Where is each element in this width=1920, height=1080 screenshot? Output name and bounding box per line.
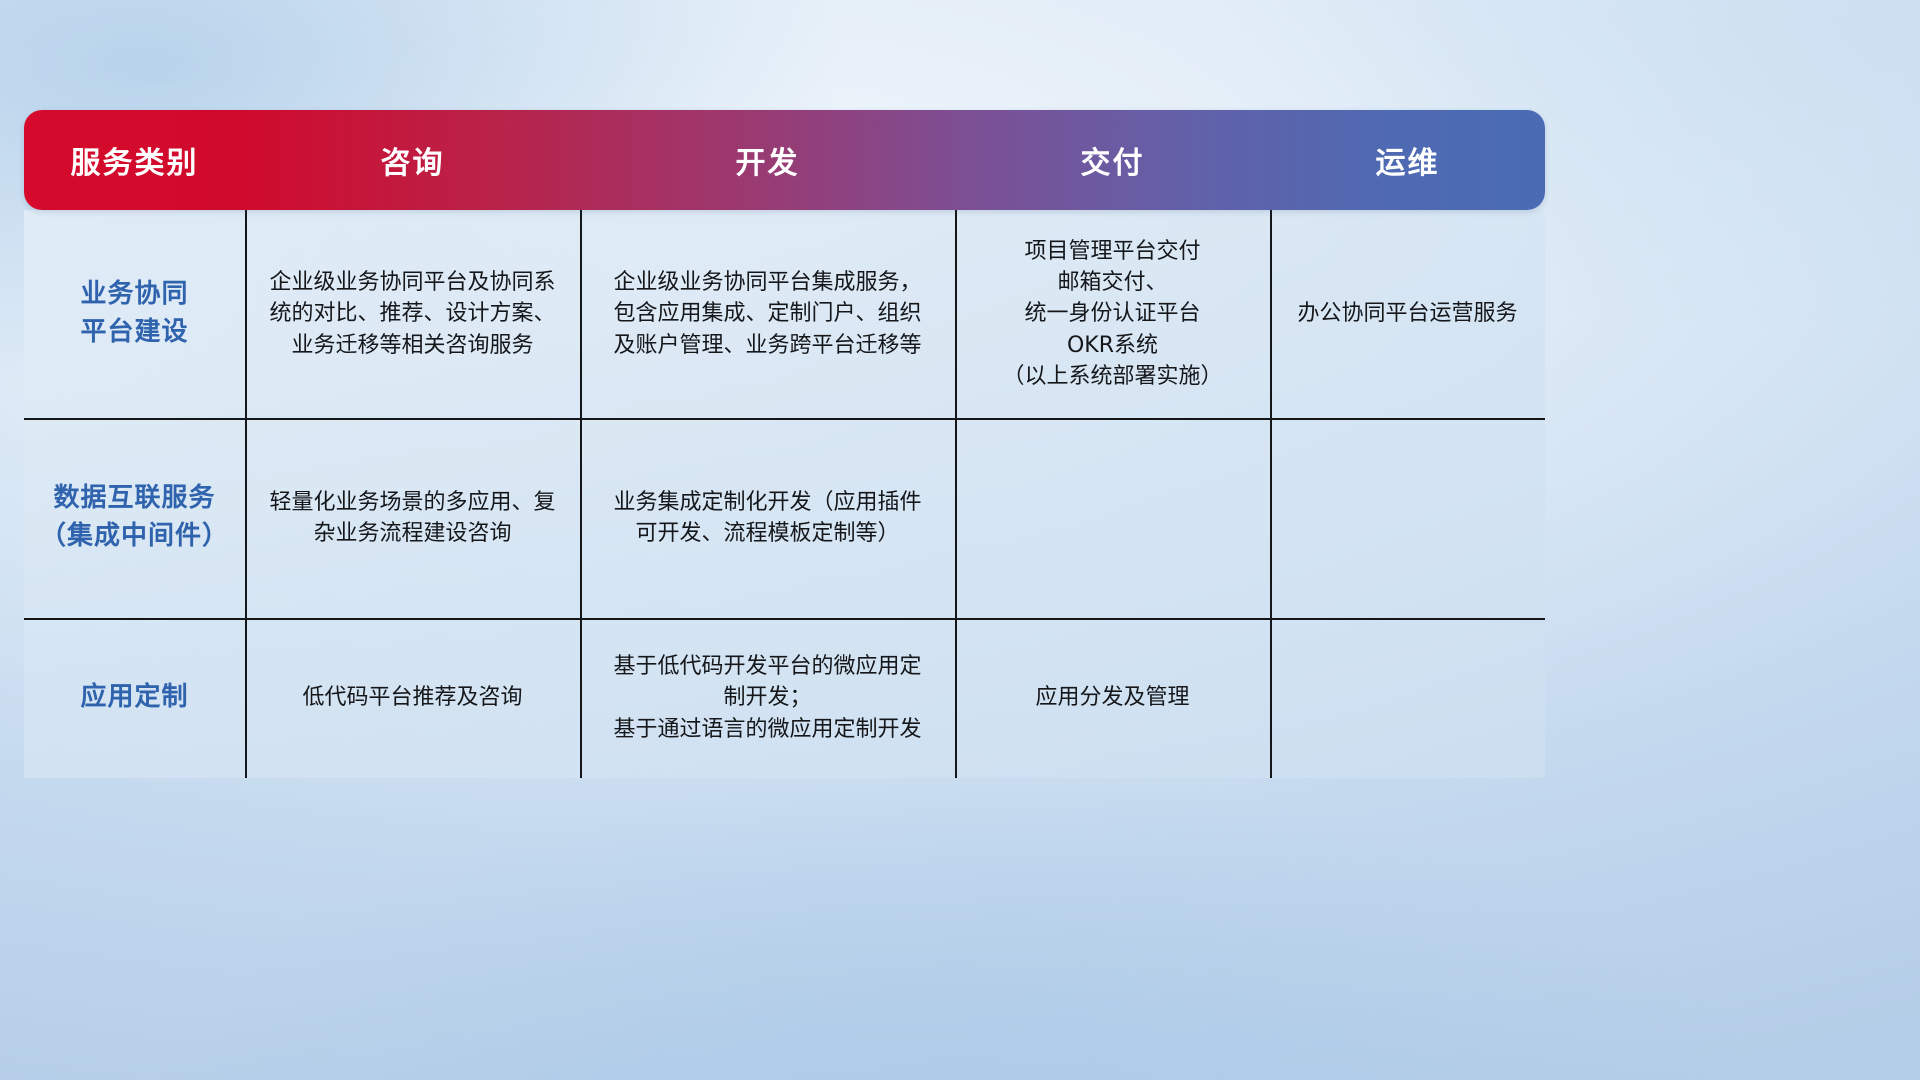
cell-consulting: 低代码平台推荐及咨询 <box>245 618 580 778</box>
cell-delivery: 应用分发及管理 <box>955 618 1270 778</box>
row-label-cell: 应用定制 <box>24 618 245 778</box>
cell-development: 基于低代码开发平台的微应用定 制开发； 基于通过语言的微应用定制开发 <box>580 618 955 778</box>
services-matrix-table: 服务类别 咨询 开发 交付 运维 业务协同 平台建设 企业级业务协同平台及协同系… <box>24 110 1545 778</box>
cell-delivery: 项目管理平台交付 邮箱交付、 统一身份认证平台 OKR系统 （以上系统部署实施） <box>955 210 1270 418</box>
column-header-consulting: 咨询 <box>245 138 580 182</box>
table-body: 业务协同 平台建设 企业级业务协同平台及协同系 统的对比、推荐、设计方案、 业务… <box>24 210 1545 778</box>
table-header-row: 服务类别 咨询 开发 交付 运维 <box>24 110 1545 210</box>
table-row: 应用定制 低代码平台推荐及咨询 基于低代码开发平台的微应用定 制开发； 基于通过… <box>24 618 1545 778</box>
cell-development: 企业级业务协同平台集成服务， 包含应用集成、定制门户、组织 及账户管理、业务跨平… <box>580 210 955 418</box>
row-label: 应用定制 <box>80 679 188 717</box>
row-label: 业务协同 平台建设 <box>80 276 188 351</box>
row-label-cell: 数据互联服务 （集成中间件） <box>24 418 245 618</box>
row-label: 数据互联服务 （集成中间件） <box>40 480 229 555</box>
cell-consulting: 轻量化业务场景的多应用、复 杂业务流程建设咨询 <box>245 418 580 618</box>
column-header-development: 开发 <box>580 138 955 182</box>
cell-operations <box>1270 618 1545 778</box>
cell-consulting: 企业级业务协同平台及协同系 统的对比、推荐、设计方案、 业务迁移等相关咨询服务 <box>245 210 580 418</box>
cell-delivery <box>955 418 1270 618</box>
cell-development: 业务集成定制化开发（应用插件 可开发、流程模板定制等） <box>580 418 955 618</box>
column-header-service-category: 服务类别 <box>24 138 245 182</box>
cell-operations: 办公协同平台运营服务 <box>1270 210 1545 418</box>
column-header-delivery: 交付 <box>955 138 1270 182</box>
cell-operations <box>1270 418 1545 618</box>
table-row: 业务协同 平台建设 企业级业务协同平台及协同系 统的对比、推荐、设计方案、 业务… <box>24 210 1545 418</box>
table-row: 数据互联服务 （集成中间件） 轻量化业务场景的多应用、复 杂业务流程建设咨询 业… <box>24 418 1545 618</box>
column-header-operations: 运维 <box>1270 138 1545 182</box>
row-label-cell: 业务协同 平台建设 <box>24 210 245 418</box>
